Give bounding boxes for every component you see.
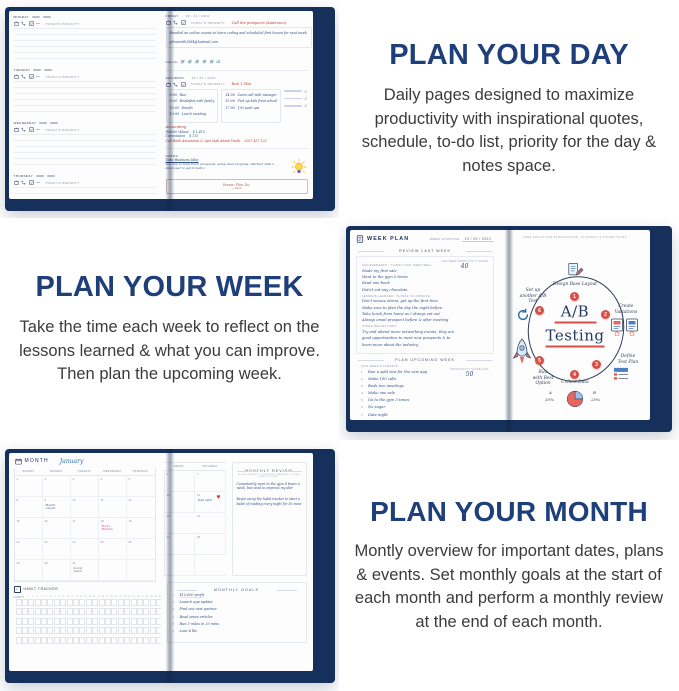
calendar-day-cell[interactable]: 17	[71, 518, 99, 539]
habit-check-cell[interactable]	[118, 608, 124, 615]
daily-notebook: MONDAY TODAY'S PRIORITY	[5, 7, 335, 211]
checkbox-icon	[29, 180, 34, 185]
habit-check-cell[interactable]	[137, 627, 143, 634]
habit-check-cell[interactable]	[86, 637, 92, 644]
calendar-day-cell[interactable]	[127, 560, 155, 581]
schedule-time: 13:00	[170, 112, 180, 116]
calendar-day-cell[interactable]: 31Soccer match	[71, 560, 99, 581]
day-name: MONDAY	[14, 15, 29, 19]
briefcase-icon	[14, 127, 19, 132]
habit-check-cell[interactable]	[73, 618, 79, 625]
briefcase-icon	[14, 21, 19, 26]
week-planner-photo: WEEK PLAN WEEK STARTING 10 / 09 / 2020 R…	[339, 218, 679, 440]
checkbox-icon	[181, 82, 186, 87]
habit-check-cell[interactable]	[118, 599, 124, 606]
habit-check-cell[interactable]	[92, 637, 98, 644]
weekday-label: MONDAY	[43, 468, 71, 476]
step-marker-4: 4	[570, 370, 579, 379]
calendar-day-number: 7	[197, 472, 199, 476]
lesson-item: Don't snooze alarm, get up the first tim…	[362, 299, 488, 303]
habit-check-cell[interactable]	[16, 637, 22, 644]
calendar-day-number: 10	[73, 498, 76, 502]
habit-check-cell[interactable]	[124, 599, 130, 606]
habit-row[interactable]	[14, 618, 156, 625]
habit-check-cell[interactable]	[99, 608, 105, 615]
achievement-item: Read one book	[362, 281, 488, 285]
habit-check-cell[interactable]	[124, 618, 130, 625]
target-item: No sugar	[368, 405, 385, 409]
reflection-item: learn more about the industry	[362, 343, 488, 347]
calendar-event: Mozart concert	[46, 504, 56, 510]
habit-check-cells[interactable]	[16, 608, 161, 615]
target-number: 4	[361, 391, 365, 395]
calendar-grid: 1234589Mozart concert10111215161718Mum's…	[15, 476, 155, 581]
habit-check-cell[interactable]	[86, 618, 92, 625]
monthly-review-panel: MONTHLY REVIEW ACHIEVEMENTS / LESSONS LE…	[232, 462, 307, 576]
calendar-day-cell[interactable]: 26	[127, 539, 155, 560]
habit-check-cell[interactable]	[111, 599, 117, 606]
calendar-day-cell[interactable]: 22	[15, 539, 43, 560]
habit-day-number: 25	[132, 596, 136, 598]
call-tally-extra: III	[216, 60, 220, 64]
habit-check-cell[interactable]	[150, 608, 156, 615]
habit-check-cell[interactable]	[47, 608, 53, 615]
target-number: 3	[361, 384, 365, 388]
day-priority-value: Run 1.5km	[232, 82, 252, 86]
habit-check-cell[interactable]	[16, 627, 22, 634]
habit-check-cell[interactable]	[35, 599, 41, 606]
calendar-day-cell[interactable]: 13	[165, 492, 196, 513]
target-item: Make one sale	[368, 391, 395, 395]
month-title: MONTH	[25, 458, 49, 464]
habit-day-number: 15	[88, 596, 92, 598]
lessons-label: LESSONS LEARNED / THINGS TO IMPROVE	[362, 295, 488, 298]
month-name-handwritten: January	[60, 458, 84, 465]
habit-check-cell[interactable]	[16, 618, 22, 625]
ab-title-line2: Testing	[545, 327, 604, 348]
habit-check-cell[interactable]	[131, 608, 137, 615]
habit-check-cell[interactable]	[131, 627, 137, 634]
habit-day-number: 9	[62, 596, 66, 598]
habit-check-cell[interactable]	[92, 627, 98, 634]
calendar-day-cell[interactable]: 8	[15, 497, 43, 518]
habit-check-cell[interactable]	[54, 627, 60, 634]
monthly-review-title: MONTHLY REVIEW	[233, 469, 306, 473]
habit-check-cell[interactable]	[22, 608, 28, 615]
day-name: WEDNESDAY	[14, 121, 37, 125]
calendar-day-cell[interactable]: 7	[195, 471, 226, 492]
habit-check-cell[interactable]	[131, 618, 137, 625]
habit-check-cell[interactable]	[16, 608, 22, 615]
plan-your-month-body: Montly overview for important dates, pla…	[354, 540, 664, 634]
target-item: Date night	[368, 413, 388, 417]
habit-check-cell[interactable]	[73, 627, 79, 634]
calendar-day-cell[interactable]: 19	[127, 518, 155, 539]
day-priority-label: TODAY'S PRIORITY	[191, 82, 225, 86]
habit-check-cell[interactable]	[92, 618, 98, 625]
habit-check-cell[interactable]	[143, 599, 149, 606]
plan-section-title: PLAN UPCOMING WEEK	[350, 358, 500, 362]
day-icon-row: TODAY'S PRIORITY	[14, 74, 156, 79]
habit-check-cell[interactable]	[150, 599, 156, 606]
phone-icon	[21, 180, 26, 185]
habit-check-cell[interactable]	[54, 608, 60, 615]
calendar-day-cell[interactable]: 20	[165, 513, 196, 534]
habit-check-cell[interactable]	[105, 627, 111, 634]
step-marker-2: 2	[601, 310, 610, 319]
plan-your-month-headline: PLAN YOUR MONTH	[370, 497, 648, 526]
calendar-day-cell[interactable]: 28	[195, 534, 226, 555]
habit-check-cells[interactable]	[16, 599, 161, 606]
rocket-icon	[512, 338, 532, 368]
habit-check-cell[interactable]	[92, 599, 98, 606]
plan-your-week-body: Take the time each week to reflect on th…	[15, 316, 325, 386]
calendar-day-cell[interactable]: 14Date night♥	[195, 492, 226, 513]
calendar-day-cell[interactable]: 6	[165, 471, 196, 492]
calendar-day-cell[interactable]: 25	[99, 539, 127, 560]
habit-check-cell[interactable]	[105, 618, 111, 625]
calendar-day-number: 8	[17, 498, 19, 502]
habit-check-cell[interactable]	[131, 599, 137, 606]
habit-check-cell[interactable]	[22, 627, 28, 634]
week-date-value: 10 / 09 / 2020	[462, 237, 494, 242]
habit-check-cell[interactable]	[86, 608, 92, 615]
calendar-day-number: 30	[45, 561, 48, 565]
month-right-page: FRIDAY SATURDAY 671314Date night♥2021272…	[161, 453, 313, 671]
habit-check-cells[interactable]	[16, 618, 161, 625]
habit-check-cell[interactable]	[22, 599, 28, 606]
habit-day-number: 23	[123, 596, 127, 598]
step-label-5: Run with Best Option	[526, 370, 560, 387]
habit-check-cell[interactable]	[86, 627, 92, 634]
goal-item: Read press articles	[180, 615, 213, 619]
habit-day-number: 8	[57, 596, 61, 598]
habit-check-cell[interactable]	[35, 608, 41, 615]
phone-icon	[173, 82, 178, 87]
calendar-day-cell[interactable]: 21	[195, 513, 226, 534]
habit-check-cell[interactable]	[137, 618, 143, 625]
habit-check-cell[interactable]	[67, 599, 73, 606]
habit-day-number: 28	[145, 596, 149, 598]
step-marker-3: 3	[592, 360, 601, 369]
habit-check-cell[interactable]	[41, 618, 47, 625]
habit-check-cell[interactable]	[150, 627, 156, 634]
calendar-day-cell[interactable]	[165, 555, 196, 576]
habit-day-numbers: 1234567891011121314151617181920212223242…	[26, 596, 160, 598]
schedule-column-morning: 8:00Run 9:00Breakfast with family 10:00E…	[166, 89, 219, 123]
habit-check-icon: ✓	[14, 586, 21, 593]
goal-item: Find one new partner	[180, 607, 217, 611]
day-name: TUESDAY	[14, 68, 31, 72]
calendar-day-number: 9	[45, 498, 47, 502]
habit-check-cell[interactable]	[35, 627, 41, 634]
habit-check-cell[interactable]	[28, 627, 34, 634]
plan-your-day-body: Daily pages designed to maximize product…	[354, 84, 664, 178]
pie-chart-icon	[558, 388, 592, 408]
target-number: 2	[361, 377, 365, 381]
notes-body: Ace app to help track prospects, setup d…	[166, 162, 286, 170]
day-name: FRIDAY	[166, 14, 179, 18]
habit-check-cell[interactable]	[54, 618, 60, 625]
habit-check-cell[interactable]	[41, 608, 47, 615]
habit-row[interactable]	[14, 637, 156, 644]
step-label-2: Create Variations	[604, 304, 648, 315]
plan-your-day-headline: PLAN YOUR DAY	[389, 40, 629, 70]
schedule-entry: 100 push ups	[238, 106, 260, 110]
day-icon-row: TODAY'S PRIORITY	[14, 127, 156, 132]
habit-check-cell[interactable]	[86, 599, 92, 606]
notes-page-header: FREE SPACE FOR STRATEGIZING, PLANNING & …	[500, 230, 650, 239]
calendar-day-number: 14	[197, 493, 200, 497]
checklist-icon	[613, 367, 629, 381]
check-icon: ✓	[304, 103, 307, 108]
habit-check-cell[interactable]	[28, 599, 34, 606]
calendar-day-number: 17	[73, 519, 76, 523]
habit-check-cell[interactable]	[137, 637, 143, 644]
habit-check-cell[interactable]	[111, 608, 117, 615]
habit-check-cell[interactable]	[137, 608, 143, 615]
calendar-day-cell[interactable]: 15	[15, 518, 43, 539]
ab-title-line1: A/B	[545, 303, 604, 321]
habit-check-cell[interactable]	[143, 618, 149, 625]
habit-check-cell[interactable]	[54, 637, 60, 644]
calendar-day-number: 6	[167, 472, 169, 476]
habit-check-cell[interactable]	[150, 637, 156, 644]
habit-check-cell[interactable]	[79, 608, 85, 615]
habit-check-cell[interactable]	[79, 599, 85, 606]
day-icon-row: TODAY'S PRIORITY	[14, 21, 156, 26]
lesson-item: Make sure to plan the day the night befo…	[362, 306, 488, 310]
phone-icon	[21, 127, 26, 132]
achievement-item: Didn't eat any chocolate	[362, 288, 488, 292]
habit-check-cell[interactable]	[118, 627, 124, 634]
habit-check-cell[interactable]	[60, 599, 66, 606]
bank-note: Call Bank Associates & 2pm (Ask About Va…	[166, 139, 241, 143]
calendar-day-cell[interactable]: 23	[43, 539, 71, 560]
habit-day-number: 21	[114, 596, 118, 598]
calendar-day-cell[interactable]: 4	[99, 476, 127, 497]
habit-check-cell[interactable]	[143, 608, 149, 615]
habit-check-cell[interactable]	[156, 627, 160, 634]
habit-row[interactable]	[14, 599, 156, 606]
habit-check-cell[interactable]	[60, 637, 66, 644]
habit-check-cell[interactable]	[60, 618, 66, 625]
phone-icon	[21, 21, 26, 26]
habit-check-cell[interactable]	[47, 637, 53, 644]
calendar-day-cell[interactable]: 3	[71, 476, 99, 497]
habit-check-cell[interactable]	[67, 627, 73, 634]
habit-check-cell[interactable]	[73, 608, 79, 615]
habit-check-cell[interactable]	[60, 608, 66, 615]
step-marker-6: 6	[535, 306, 544, 315]
habit-check-cell[interactable]	[41, 599, 47, 606]
daily-planner-photo: MONDAY TODAY'S PRIORITY	[0, 0, 339, 218]
review-paragraph: Consistently went to the gym 4 times a w…	[233, 482, 306, 492]
habit-check-cell[interactable]	[143, 627, 149, 634]
plan-your-week-text: PLAN YOUR WEEK Take the time each week t…	[0, 218, 339, 440]
day-name: THURSDAY	[14, 174, 34, 178]
habit-check-cell[interactable]	[156, 618, 160, 625]
habit-check-cell[interactable]	[73, 637, 79, 644]
month-notebook: MONTH January SUNDAY MONDAY TUESDAY WEDN…	[5, 449, 335, 683]
habit-check-cell[interactable]	[111, 627, 117, 634]
habit-check-cell[interactable]	[105, 637, 111, 644]
calendar-day-cell[interactable]: 11	[99, 497, 127, 518]
plan-upcoming-week-panel: PRODUCTIVITY SCORE GOAL 50 THIS WEEK'S T…	[356, 365, 494, 420]
calendar-day-cell[interactable]: 18Mum's Birthday	[99, 518, 127, 539]
habit-check-cell[interactable]	[156, 599, 160, 606]
habit-check-cell[interactable]	[67, 618, 73, 625]
day-block: MONDAY TODAY'S PRIORITY	[9, 11, 161, 59]
habit-check-cell[interactable]	[118, 637, 124, 644]
month-planner-photo: MONTH January SUNDAY MONDAY TUESDAY WEDN…	[0, 440, 339, 691]
briefcase-icon	[14, 180, 19, 185]
habit-check-cell[interactable]	[150, 618, 156, 625]
habit-day-number: 3	[35, 596, 39, 598]
habit-check-cell[interactable]	[99, 599, 105, 606]
day-date: 09 / 05 / 2020	[192, 76, 216, 80]
checkbox-icon	[29, 21, 34, 26]
reflections-label: OTHER REFLECTIONS	[362, 325, 488, 328]
habit-check-cell[interactable]	[54, 599, 60, 606]
habit-check-cell[interactable]	[47, 599, 53, 606]
target-number: 1	[361, 370, 365, 374]
habit-check-cell[interactable]	[79, 637, 85, 644]
habit-check-cell[interactable]	[99, 637, 105, 644]
habit-check-cell[interactable]	[99, 618, 105, 625]
calendar-grid-tail: 671314Date night♥20212728	[164, 471, 226, 576]
heart-icon: ♥	[216, 494, 220, 501]
habit-check-cell[interactable]	[137, 599, 143, 606]
habit-check-cell[interactable]	[156, 608, 160, 615]
calendar-day-cell[interactable]: 9Mozart concert	[43, 497, 71, 518]
month-left-page: MONTH January SUNDAY MONDAY TUESDAY WEDN…	[9, 453, 161, 671]
calendar-day-cell[interactable]	[99, 560, 127, 581]
habit-check-cell[interactable]	[124, 627, 130, 634]
calendar-day-cell[interactable]: 5	[127, 476, 155, 497]
target-item: Run a split test for the new app	[368, 370, 427, 374]
refresh-cycle-icon	[516, 308, 530, 322]
week-notebook: WEEK PLAN WEEK STARTING 10 / 09 / 2020 R…	[346, 226, 672, 432]
habit-check-cells[interactable]	[16, 627, 161, 634]
habit-check-cell[interactable]	[35, 618, 41, 625]
calendar-day-cell[interactable]: 16	[43, 518, 71, 539]
habit-check-cell[interactable]	[156, 637, 160, 644]
score-value: 40	[441, 263, 488, 270]
step-label-1: Design Base Layout	[540, 282, 610, 288]
habit-check-cell[interactable]	[67, 608, 73, 615]
habit-check-cell[interactable]	[41, 627, 47, 634]
habit-check-cells[interactable]	[16, 637, 161, 644]
calendar-day-cell[interactable]: 29	[15, 560, 43, 581]
reflection-item: good opportunities to meet new prospects…	[362, 336, 488, 340]
habit-row[interactable]	[14, 627, 156, 634]
weekday-label: TUESDAY	[71, 468, 99, 476]
calendar-day-number: 24	[73, 540, 76, 544]
calendar-day-number: 1	[17, 477, 19, 481]
habit-check-cell[interactable]	[73, 599, 79, 606]
check-icon: ✓	[304, 96, 307, 101]
habit-check-cell[interactable]	[67, 637, 73, 644]
checkbox-icon	[181, 20, 186, 25]
quote-author: — Anon	[171, 187, 303, 190]
habit-check-cell[interactable]	[105, 608, 111, 615]
habit-check-cell[interactable]	[28, 637, 34, 644]
monthly-goals-title: MONTHLY GOALS	[173, 588, 301, 592]
habit-check-cell[interactable]	[92, 608, 98, 615]
review-paragraph: Begin using the habit tracker to start a…	[233, 497, 306, 507]
habit-day-number: 14	[83, 596, 87, 598]
calendar-day-cell[interactable]: 30	[43, 560, 71, 581]
habit-check-cell[interactable]	[28, 618, 34, 625]
habit-check-cell[interactable]	[105, 599, 111, 606]
habit-day-number: 27	[141, 596, 145, 598]
habit-check-cell[interactable]	[131, 637, 137, 644]
habit-check-cell[interactable]	[60, 627, 66, 634]
day-lines	[14, 134, 156, 165]
calendar-day-number: 26	[129, 540, 132, 544]
calendar-day-cell[interactable]: 12	[127, 497, 155, 518]
goal-item: Lose 4 lbs	[180, 629, 197, 633]
calendar-day-cell[interactable]: 2	[43, 476, 71, 497]
goal-item: Run 3 miles in 20 mins	[180, 622, 219, 626]
calendar-day-number: 12	[129, 498, 132, 502]
calendar-day-cell[interactable]: 24	[71, 539, 99, 560]
habit-check-cell[interactable]	[22, 637, 28, 644]
habit-check-cell[interactable]	[99, 627, 105, 634]
habit-check-cell[interactable]	[79, 627, 85, 634]
habit-check-cell[interactable]	[124, 637, 130, 644]
habit-check-cell[interactable]	[28, 608, 34, 615]
habit-day-number: 12	[75, 596, 79, 598]
calendar-day-cell[interactable]	[195, 555, 226, 576]
habit-row[interactable]	[14, 608, 156, 615]
habit-day-number: 7	[53, 596, 57, 598]
month-calendar: SUNDAY MONDAY TUESDAY WEDNESDAY THURSDAY…	[14, 468, 156, 582]
habit-day-number: 1	[26, 596, 30, 598]
schedule-time: 10:00	[170, 106, 180, 110]
step-marker-5: 5	[535, 356, 544, 365]
habit-check-cell[interactable]	[79, 618, 85, 625]
step-marker-1: 1	[570, 292, 579, 301]
goal-item: $15,000 profit	[180, 593, 205, 597]
monthly-review-subtitle: ACHIEVEMENTS / LESSONS LEARNED / OTHER R…	[233, 474, 306, 478]
goal-number: 4	[173, 615, 177, 619]
calendar-day-cell[interactable]: 27	[165, 534, 196, 555]
daily-schedule: 8:00Run 9:00Breakfast with family 10:00E…	[166, 89, 308, 123]
day-priority-label: TODAY'S PRIORITY	[191, 21, 225, 25]
calendar-day-cell[interactable]: 10	[71, 497, 99, 518]
briefcase-icon	[166, 82, 171, 87]
habit-check-cell[interactable]	[118, 618, 124, 625]
habit-day-number: 26	[136, 596, 140, 598]
habit-check-cell[interactable]	[35, 637, 41, 644]
habit-check-cell[interactable]	[41, 637, 47, 644]
habit-check-cell[interactable]	[124, 608, 130, 615]
habit-check-cell[interactable]	[22, 618, 28, 625]
habit-check-cell[interactable]	[143, 637, 149, 644]
habit-check-cell[interactable]	[47, 618, 53, 625]
week-left-page: WEEK PLAN WEEK STARTING 10 / 09 / 2020 R…	[350, 230, 500, 420]
calendar-day-cell[interactable]: 1	[15, 476, 43, 497]
habit-check-cell[interactable]	[111, 637, 117, 644]
habit-check-cell[interactable]	[16, 599, 22, 606]
calendar-day-number: 27	[167, 535, 170, 539]
plan-your-week-headline: PLAN YOUR WEEK	[35, 272, 303, 302]
habit-check-cell[interactable]	[111, 618, 117, 625]
calendar-event: Mum's Birthday	[102, 525, 113, 531]
habit-check-cell[interactable]	[47, 627, 53, 634]
